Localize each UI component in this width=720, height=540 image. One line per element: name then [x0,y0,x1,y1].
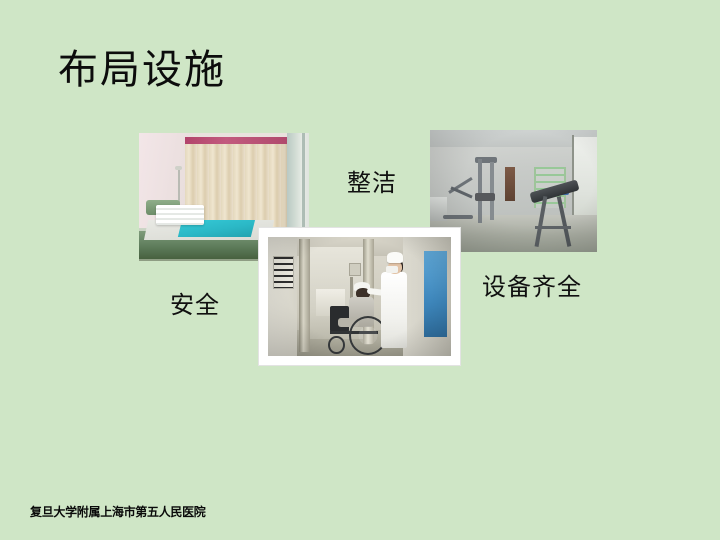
footer-organization: 复旦大学附属上海市第五人民医院 [30,503,206,520]
ward-iv-pole-hook [175,166,182,170]
caption-safe: 安全 [170,290,220,320]
elevator-photo-inner [268,237,451,356]
ward-folded-linens [156,205,204,225]
page-title: 布局设施 [58,44,226,96]
elevator-vignette [268,237,451,356]
caption-equipment: 设备齐全 [482,272,582,302]
photo-elevator-wheelchair[interactable] [259,228,460,365]
presentation-slide: 布局设施 [0,0,720,540]
caption-clean: 整洁 [347,168,397,198]
ward-curtain-valance [185,137,287,144]
